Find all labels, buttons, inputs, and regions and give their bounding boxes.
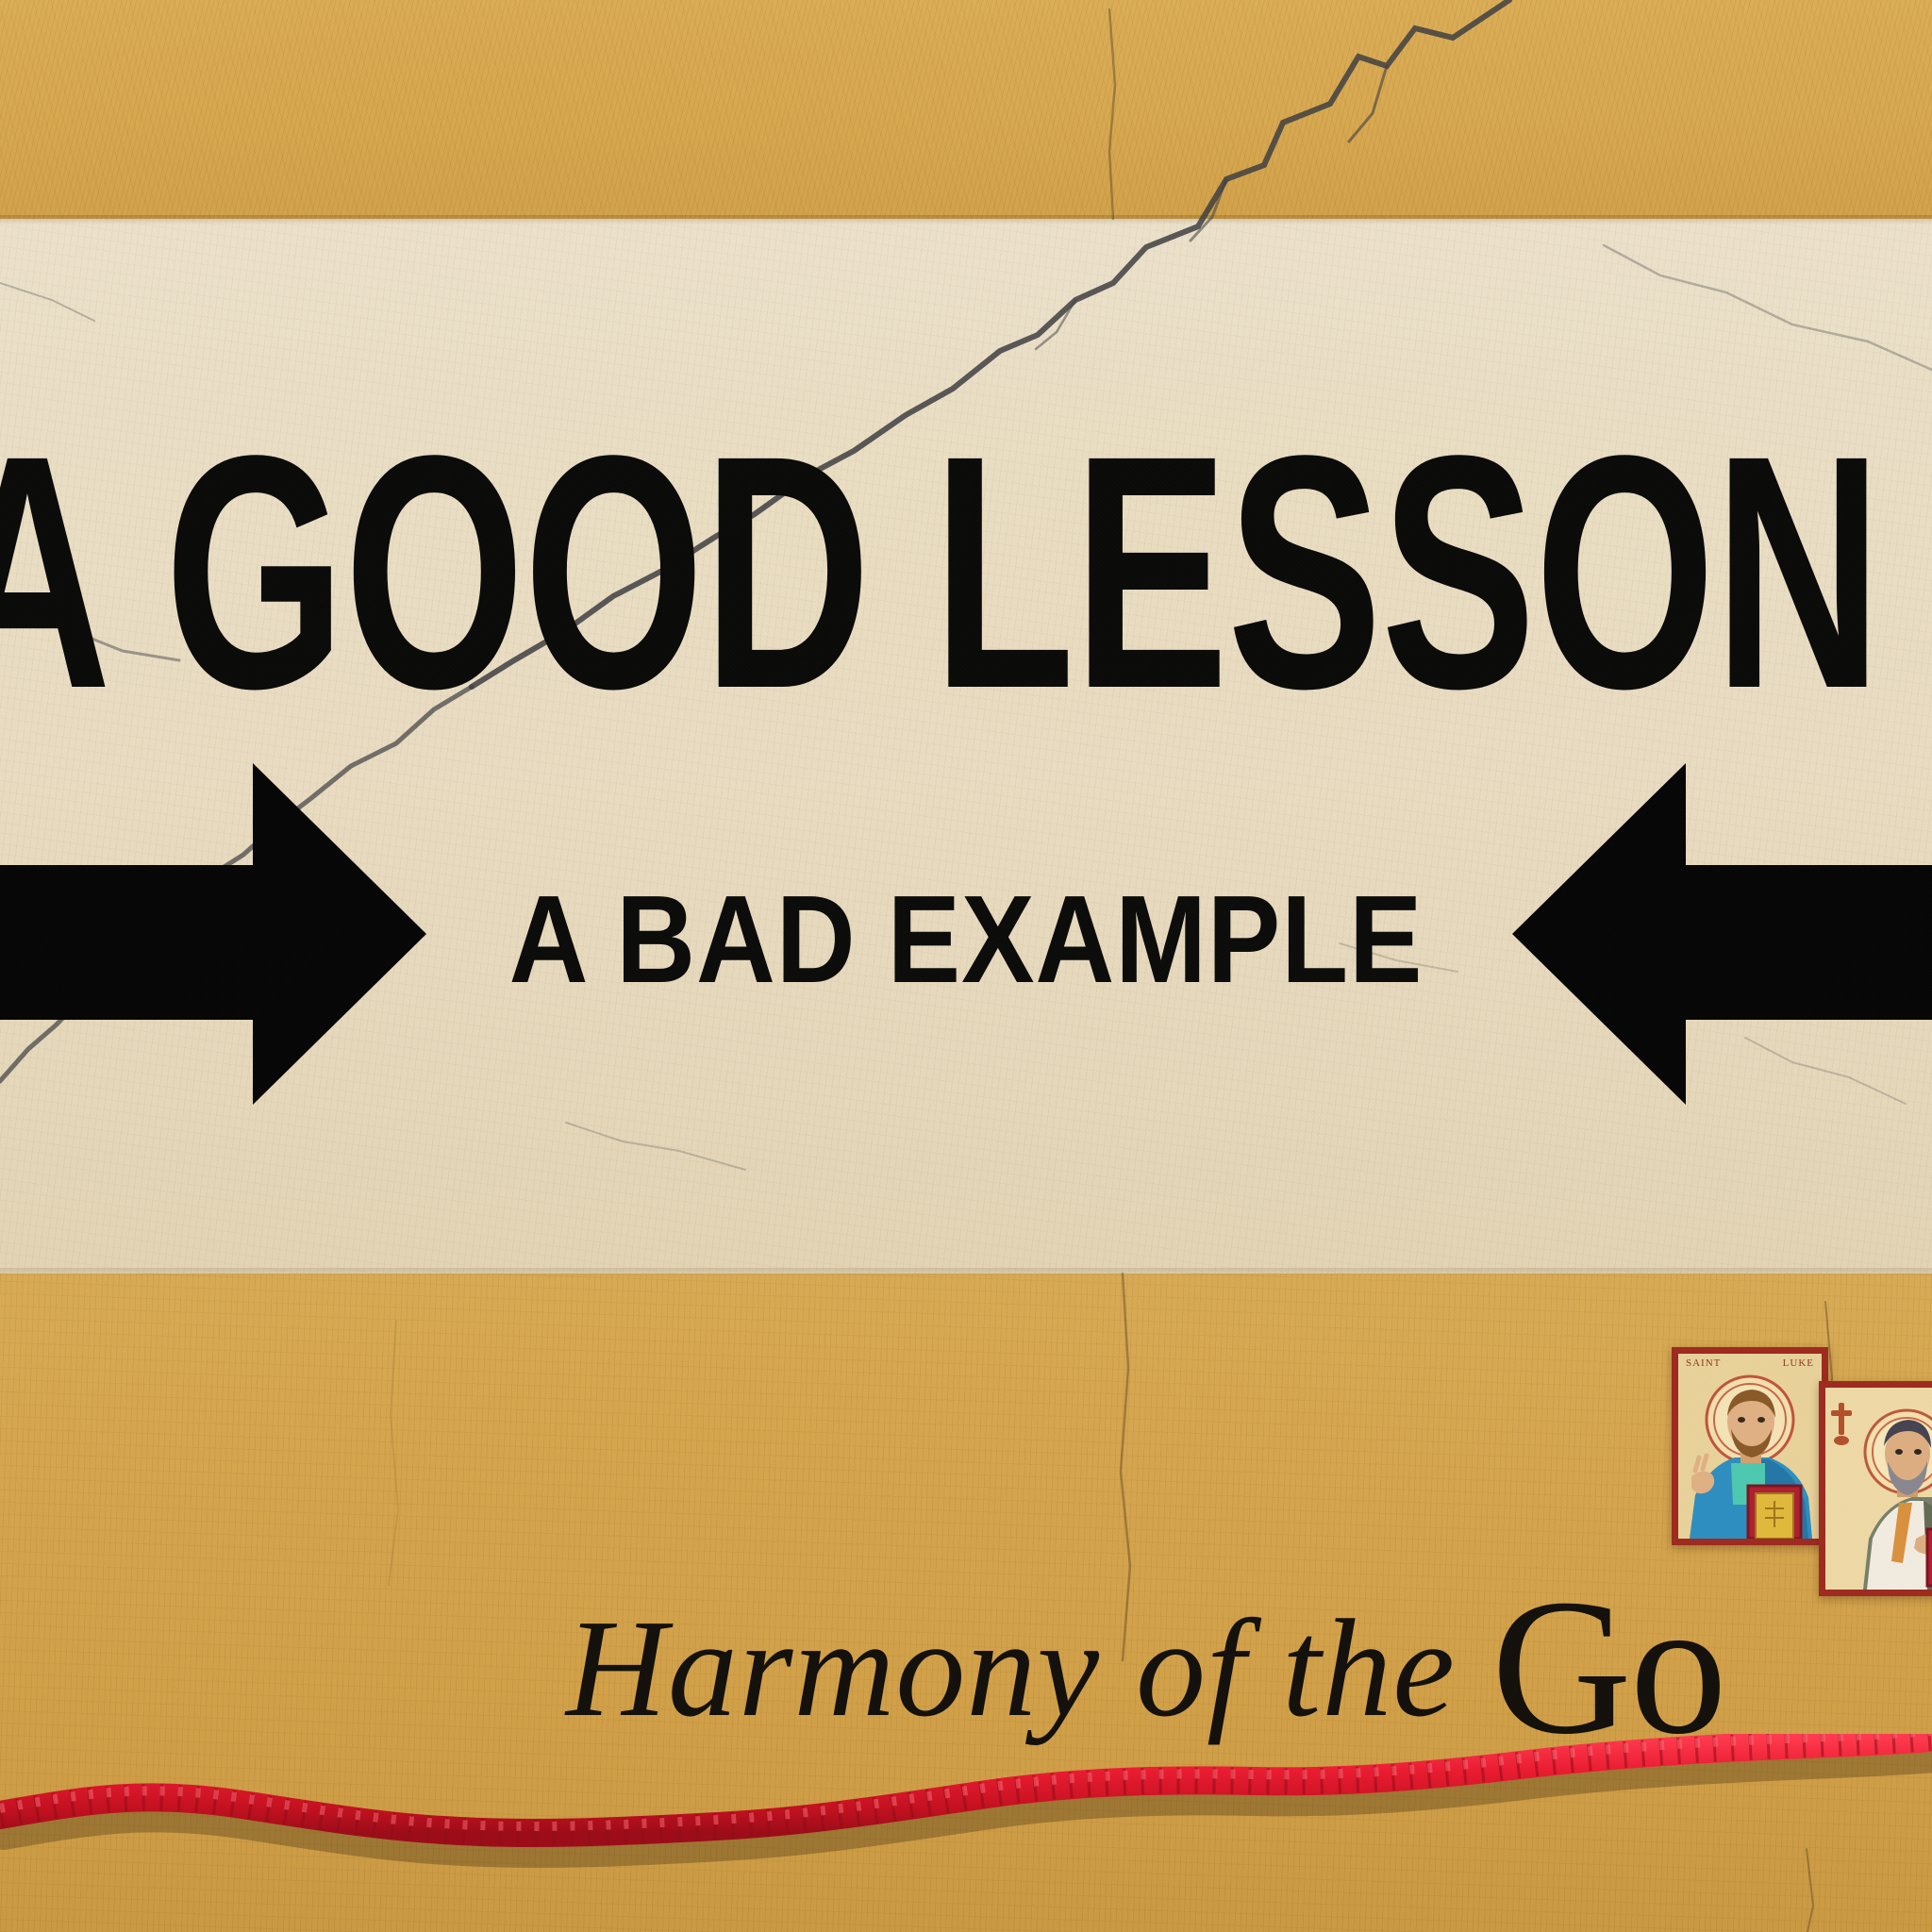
brand-text-large: Go <box>1491 1558 1725 1774</box>
brand-harmony-of-the-gospels: Harmony of the Go <box>566 1570 1725 1764</box>
saint-luke-label-right: LUKE <box>1783 1357 1814 1369</box>
saint-luke-icon: SAINT LUKE <box>1672 1347 1828 1545</box>
saint-evangelist-icon <box>1819 1381 1932 1596</box>
subtitle-bad-example: A BAD EXAMPLE <box>116 877 1816 1002</box>
saint-luke-label: SAINT LUKE <box>1678 1357 1822 1369</box>
poster-canvas: A GOOD LESSON FROM A BAD EXAMPLE <box>0 0 1932 1932</box>
saint-luke-label-left: SAINT <box>1686 1357 1721 1369</box>
page-title: A GOOD LESSON FROM <box>0 406 1383 738</box>
brand-text-small: Harmony of the <box>566 1591 1491 1746</box>
gold-band-top <box>0 0 1932 219</box>
